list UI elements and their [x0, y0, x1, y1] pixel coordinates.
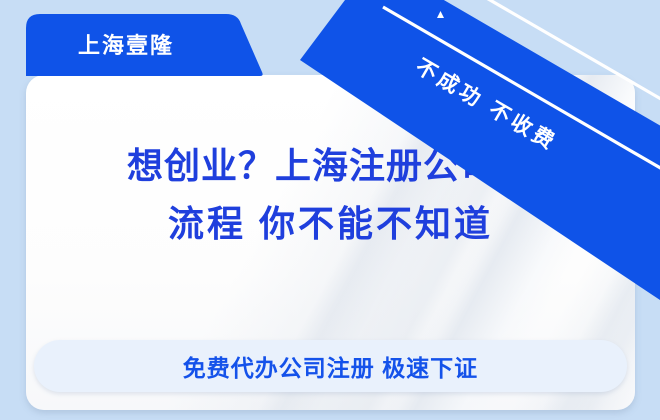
headline-line-2: 流程 你不能不知道: [26, 195, 635, 253]
brand-tab[interactable]: 上海壹隆: [26, 14, 266, 76]
brand-tab-label: 上海壹隆: [26, 28, 226, 60]
cta-banner-label: 免费代办公司注册 极速下证: [183, 349, 478, 383]
triangle-up-icon: [437, 11, 444, 18]
cta-banner[interactable]: 免费代办公司注册 极速下证: [34, 340, 627, 392]
poster-canvas: 想创业？上海注册公司的 流程 你不能不知道 免费代办公司注册 极速下证 上海壹隆…: [0, 0, 660, 420]
